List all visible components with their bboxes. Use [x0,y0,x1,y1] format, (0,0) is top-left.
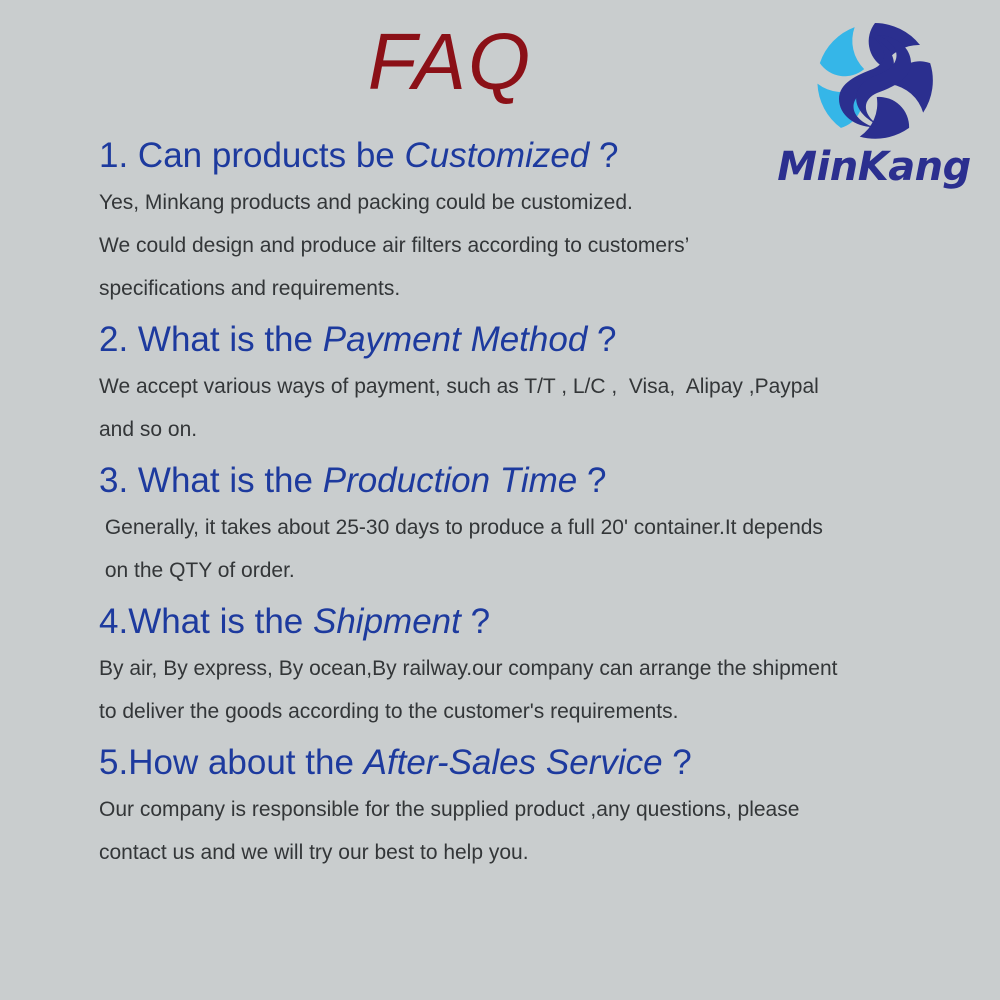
faq-item-1: 1. Can products be Customized ? Yes, Min… [99,133,979,310]
faq-item-2: 2. What is the Payment Method ? We accep… [99,317,979,451]
faq-answer-3: Generally, it takes about 25-30 days to … [99,506,979,592]
faq-question-4-emphasis: Shipment [313,602,461,641]
faq-question-5-lead: How about the [128,743,363,782]
faq-question-4-lead: What is the [128,602,313,641]
faq-question-1-lead: Can products be [138,136,405,175]
faq-question-4: 4.What is the Shipment ? [99,599,979,645]
faq-question-3-lead: What is the [138,461,323,500]
faq-question-3-tail: ? [577,461,606,500]
faq-question-3-emphasis: Production Time [323,461,578,500]
faq-content: 1. Can products be Customized ? Yes, Min… [99,133,979,874]
faq-answer-1: Yes, Minkang products and packing could … [99,181,979,310]
faq-answer-2: We accept various ways of payment, such … [99,365,979,451]
faq-question-4-tail: ? [461,602,490,641]
faq-question-1-emphasis: Customized [404,136,589,175]
faq-question-5-emphasis: After-Sales Service [364,743,663,782]
faq-answer-4: By air, By express, By ocean,By railway.… [99,647,979,733]
faq-question-1: 1. Can products be Customized ? [99,133,979,179]
faq-question-1-number: 1. [99,136,138,175]
faq-question-2-emphasis: Payment Method [323,320,588,359]
faq-question-2-number: 2. [99,320,138,359]
faq-item-5: 5.How about the After-Sales Service ? Ou… [99,740,979,874]
faq-question-2: 2. What is the Payment Method ? [99,317,979,363]
faq-question-5: 5.How about the After-Sales Service ? [99,740,979,786]
faq-question-3-number: 3. [99,461,138,500]
faq-question-5-tail: ? [663,743,692,782]
faq-item-4: 4.What is the Shipment ? By air, By expr… [99,599,979,733]
faq-question-2-lead: What is the [138,320,323,359]
faq-answer-5: Our company is responsible for the suppl… [99,788,979,874]
faq-question-2-tail: ? [587,320,616,359]
faq-page: FAQ [0,0,1000,1000]
faq-item-3: 3. What is the Production Time ? General… [99,458,979,592]
minkang-pinwheel-logo-icon [812,18,938,144]
faq-question-3: 3. What is the Production Time ? [99,458,979,504]
faq-question-5-number: 5. [99,743,128,782]
faq-question-4-number: 4. [99,602,128,641]
faq-question-1-tail: ? [589,136,618,175]
